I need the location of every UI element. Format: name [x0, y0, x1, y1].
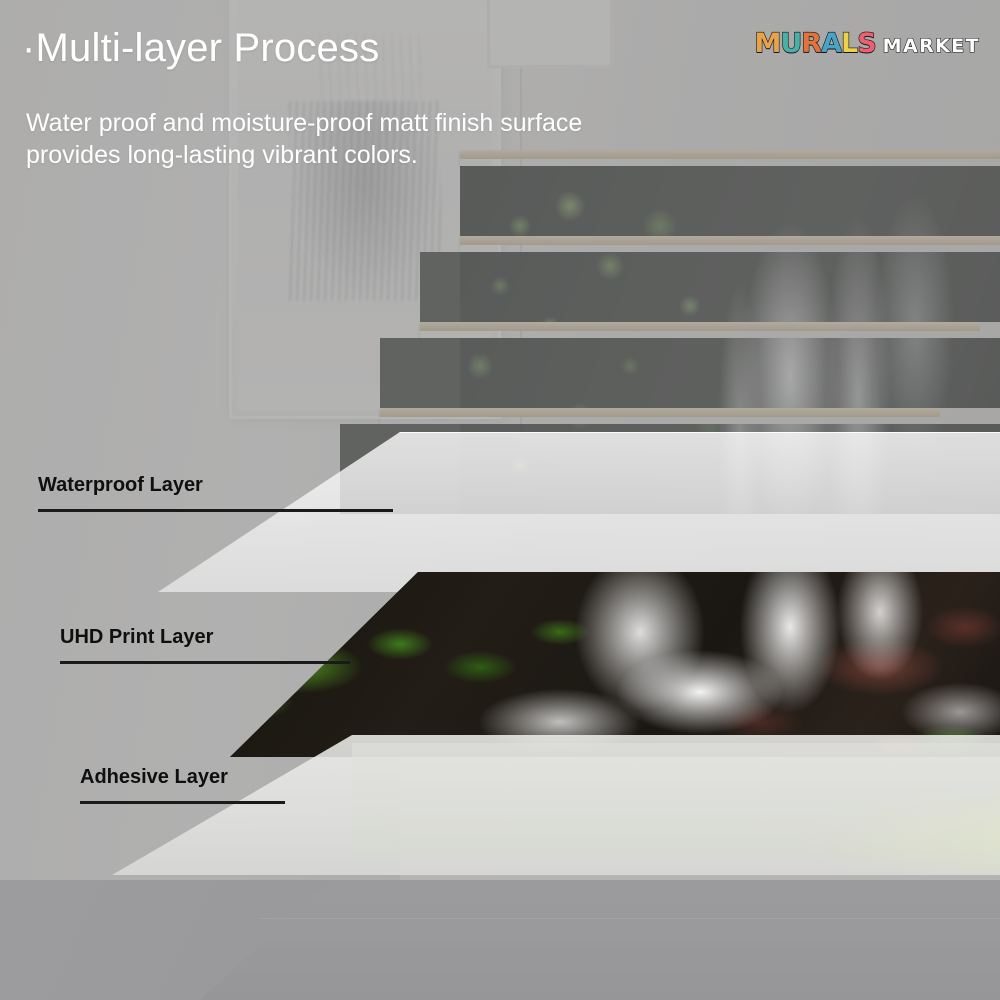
layer-adhesive-panel [352, 743, 1000, 859]
brand-logo-letter: R [919, 37, 935, 56]
label-adhesive-layer-text: Adhesive Layer [80, 766, 285, 789]
brand-logo: MURALS MARKET [754, 30, 980, 57]
page-subtitle-line-2: provides long-lasting vibrant colors. [26, 140, 816, 172]
brand-logo-murals: MURALS [754, 30, 875, 57]
brand-logo-letter: T [966, 37, 980, 56]
layer-waterproof [0, 432, 1000, 592]
brand-logo-letter: U [780, 30, 801, 57]
label-waterproof-layer-text: Waterproof Layer [38, 474, 393, 497]
brand-logo-letter: A [903, 37, 919, 56]
label-waterproof-layer: Waterproof Layer [38, 474, 393, 512]
label-uhd-print-layer: UHD Print Layer [60, 626, 350, 664]
label-adhesive-layer-rule [80, 801, 285, 804]
brand-logo-letter: A [821, 30, 841, 57]
layer-adhesive-sheet [0, 735, 1000, 875]
brand-logo-letter: E [951, 37, 965, 56]
page-subtitle-line-1: Water proof and moisture-proof matt fini… [26, 108, 816, 140]
brand-logo-letter: K [935, 37, 951, 56]
promo-graphic: ·Multi-layer Process Water proof and moi… [0, 0, 1000, 1000]
label-uhd-print-layer-rule [60, 661, 350, 664]
layer-uhd-print-sheet [0, 572, 1000, 757]
layer-adhesive [0, 735, 1000, 875]
page-title: ·Multi-layer Process [22, 26, 379, 71]
brand-logo-letter: M [754, 30, 780, 57]
layer-adhesive-glow [792, 783, 1000, 879]
brand-logo-letter: S [857, 30, 875, 57]
brand-logo-market: MARKET [883, 37, 980, 56]
brand-logo-letter: R [801, 30, 821, 57]
page-subtitle: Water proof and moisture-proof matt fini… [26, 108, 816, 171]
label-waterproof-layer-rule [38, 509, 393, 512]
layer-uhd-print [0, 572, 1000, 757]
label-uhd-print-layer-text: UHD Print Layer [60, 626, 350, 649]
brand-logo-letter: M [883, 37, 903, 56]
layer-waterproof-sheet [0, 432, 1000, 592]
brand-logo-letter: L [841, 30, 857, 57]
label-adhesive-layer: Adhesive Layer [80, 766, 285, 804]
